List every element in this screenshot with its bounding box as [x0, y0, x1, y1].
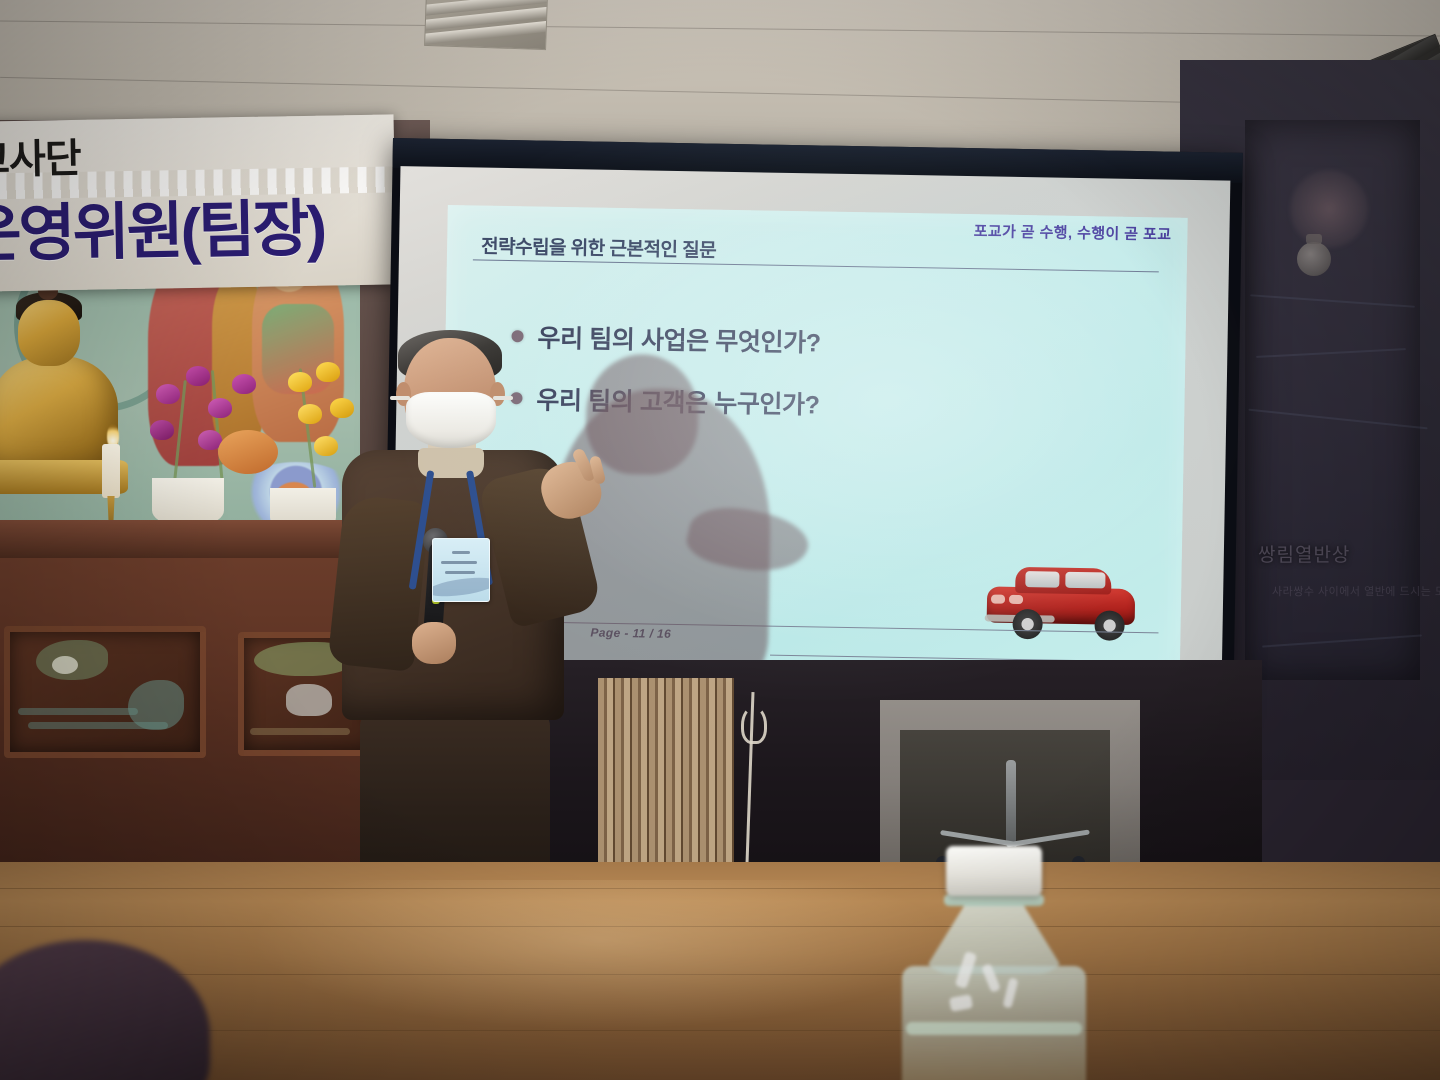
face-mask — [406, 392, 496, 448]
offering-fruit — [218, 430, 278, 474]
orchid-flower-yellow — [298, 404, 322, 424]
orchid-flower — [186, 366, 210, 386]
banner-line-2: 운영위원(팀장) — [0, 178, 325, 274]
altar-front — [0, 558, 382, 868]
orchid-flower-yellow — [288, 372, 312, 392]
photo-scene: 쌍림열반상 사라쌍수 사이에서 열반에 드시는 모습 — [0, 0, 1440, 1080]
flower-pot — [152, 478, 224, 524]
presenter-hand-holding-mic — [412, 622, 456, 664]
orchid-flower — [156, 384, 180, 404]
wall-medallion-icon — [1297, 242, 1331, 276]
candle — [102, 444, 120, 498]
banner-line-1: 교사단 — [0, 126, 81, 186]
lens-flare-bokeh — [1290, 170, 1368, 248]
name-badge — [432, 538, 490, 602]
carved-lotus-panel — [4, 626, 206, 758]
buddha-statue — [0, 300, 114, 490]
orchid-flower — [232, 374, 256, 394]
presenter — [330, 330, 660, 940]
slide-title-rule — [473, 259, 1159, 272]
bottle-cap — [946, 846, 1042, 896]
altar-table-top — [0, 520, 370, 562]
slide-tagline: 포교가 곧 수행, 수행이 곧 포교 — [973, 220, 1171, 244]
wall-plaque-subtitle: 사라쌍수 사이에서 열반에 드시는 모습 — [1272, 583, 1440, 599]
floor-light-reflection — [250, 880, 950, 1030]
event-banner: 교사단 운영위원(팀장) — [0, 114, 396, 291]
mask-strap — [493, 396, 513, 400]
wall-plaque-title: 쌍림열반상 — [1258, 540, 1438, 567]
mask-strap — [390, 396, 410, 400]
ceiling-vent-icon — [424, 0, 548, 50]
water-bottle — [898, 846, 1088, 1080]
orchid-flower — [150, 420, 174, 440]
slide-title: 전략수립을 위한 근본적인 질문 — [481, 232, 717, 263]
screen-pull-cord-hook — [741, 706, 767, 744]
orchid-flower — [208, 398, 232, 418]
